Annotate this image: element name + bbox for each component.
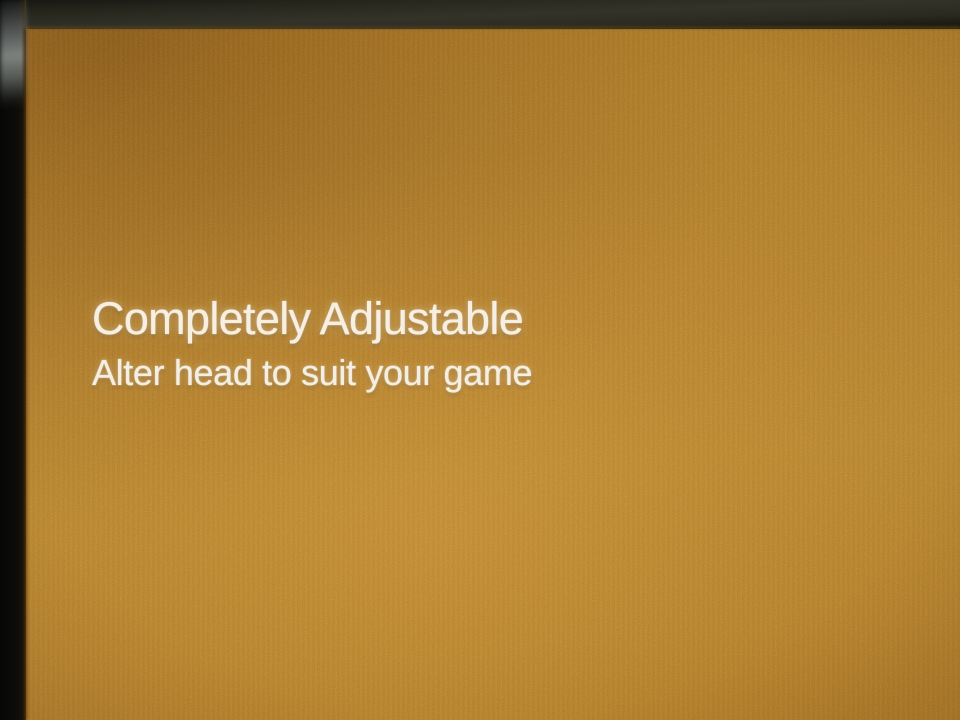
caption-subtitle: Alter head to suit your game bbox=[92, 355, 852, 391]
left-dark-strip bbox=[0, 0, 26, 720]
caption-title: Completely Adjustable bbox=[92, 296, 852, 341]
top-dark-band bbox=[0, 0, 960, 29]
video-frame: Completely Adjustable Alter head to suit… bbox=[0, 0, 960, 720]
caption-block: Completely Adjustable Alter head to suit… bbox=[92, 296, 852, 391]
